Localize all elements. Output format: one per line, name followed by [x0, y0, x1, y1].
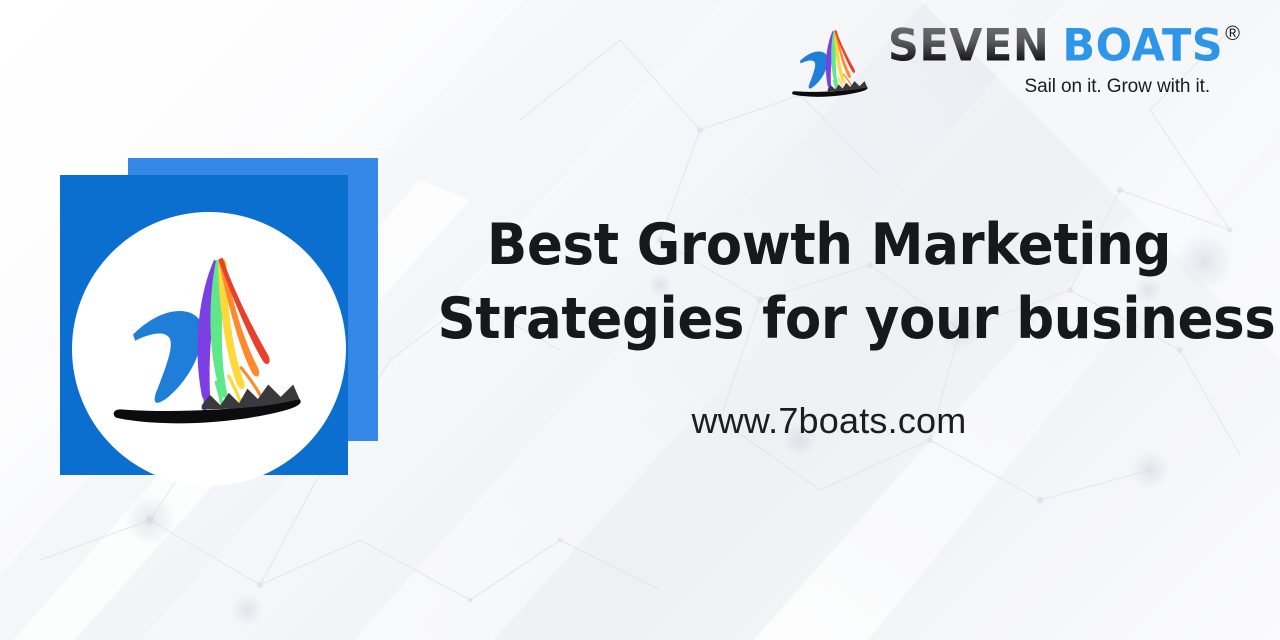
logo-badge	[60, 158, 378, 475]
brand-wordmark: SEVEN BOATS ®	[888, 26, 1240, 69]
brand-word-boats: BOATS	[1062, 24, 1223, 69]
page-title: Best Growth Marketing Strategies for you…	[437, 208, 1220, 356]
banner-content: Best Growth Marketing Strategies for you…	[408, 208, 1250, 442]
sailboat-rainbow-icon	[104, 243, 316, 451]
promo-banner: SEVEN BOATS ® Sail on it. Grow with it.	[0, 0, 1280, 640]
headline-line-2: Strategies for your business	[437, 282, 1220, 356]
brand-logo-header[interactable]: SEVEN BOATS ® Sail on it. Grow with it.	[788, 22, 1240, 108]
website-url[interactable]: www.7boats.com	[408, 400, 1250, 442]
brand-wordmark-block: SEVEN BOATS ® Sail on it. Grow with it.	[888, 22, 1240, 98]
registered-trademark-icon: ®	[1225, 24, 1240, 44]
brand-word-seven: SEVEN	[888, 24, 1049, 69]
sailboat-rainbow-icon	[788, 24, 874, 108]
badge-front-square	[60, 175, 348, 475]
brand-tagline: Sail on it. Grow with it.	[1025, 76, 1210, 98]
headline-line-1: Best Growth Marketing	[437, 208, 1220, 282]
